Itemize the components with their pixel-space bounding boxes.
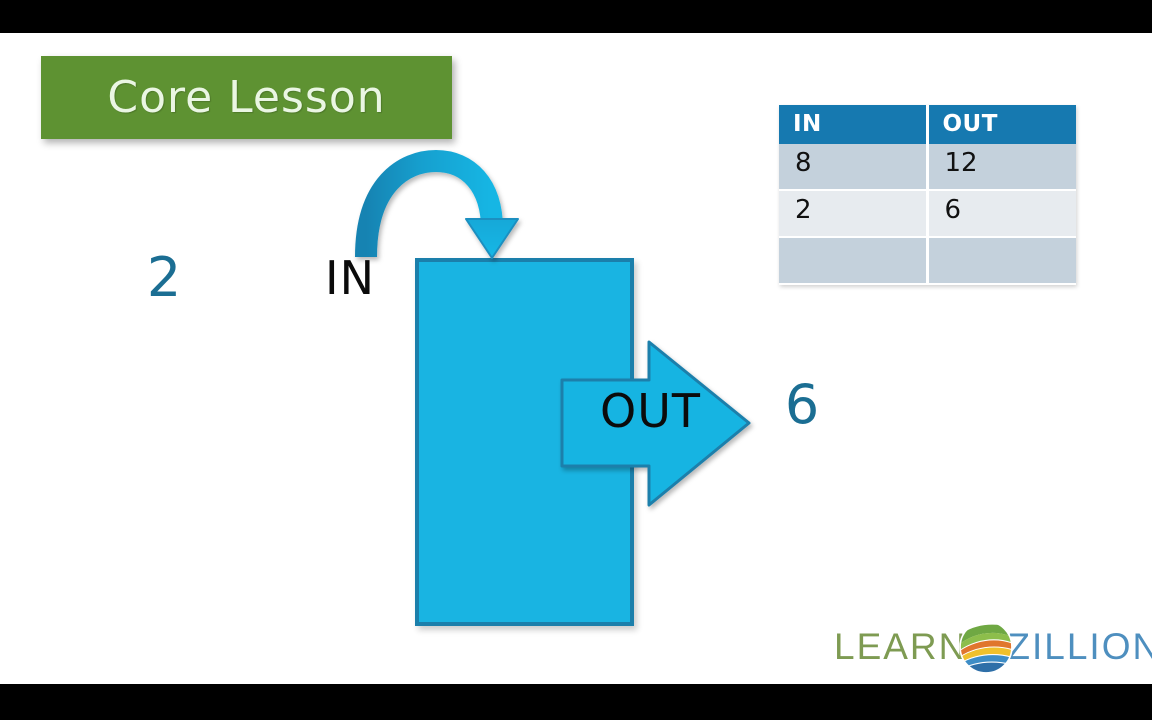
learnzillion-logo: LEARN ZILLION xyxy=(834,620,1152,672)
curved-in-arrow xyxy=(366,161,518,258)
table-header-in: IN xyxy=(779,105,927,144)
letterbox-bar-bottom xyxy=(0,684,1152,720)
table-row xyxy=(779,237,1076,284)
table-row: 2 6 xyxy=(779,190,1076,237)
slide-root: Core Lesson 2 xyxy=(0,0,1152,720)
table-cell-in: 2 xyxy=(779,190,927,237)
in-out-table: IN OUT 8 12 2 6 xyxy=(779,105,1076,285)
table-header-out: OUT xyxy=(927,105,1076,144)
table-cell-out xyxy=(927,237,1076,284)
logo-text-zillion: ZILLION xyxy=(1007,628,1152,665)
page-title: Core Lesson xyxy=(41,56,452,139)
table-cell-in: 8 xyxy=(779,144,927,190)
slide-canvas: Core Lesson 2 xyxy=(0,33,1152,684)
output-value: 6 xyxy=(772,378,832,432)
table-cell-out: 6 xyxy=(927,190,1076,237)
table-row: 8 12 xyxy=(779,144,1076,190)
input-value: 2 xyxy=(134,251,194,305)
letterbox-bar-top xyxy=(0,0,1152,33)
table-cell-out: 12 xyxy=(927,144,1076,190)
table-cell-in xyxy=(779,237,927,284)
logo-text-learn: LEARN xyxy=(834,628,967,665)
out-label: OUT xyxy=(600,388,701,434)
table-header-row: IN OUT xyxy=(779,105,1076,144)
globe-icon xyxy=(959,620,1013,674)
function-machine-box xyxy=(415,258,634,626)
in-label: IN xyxy=(325,255,375,301)
title-banner: Core Lesson xyxy=(41,56,452,139)
